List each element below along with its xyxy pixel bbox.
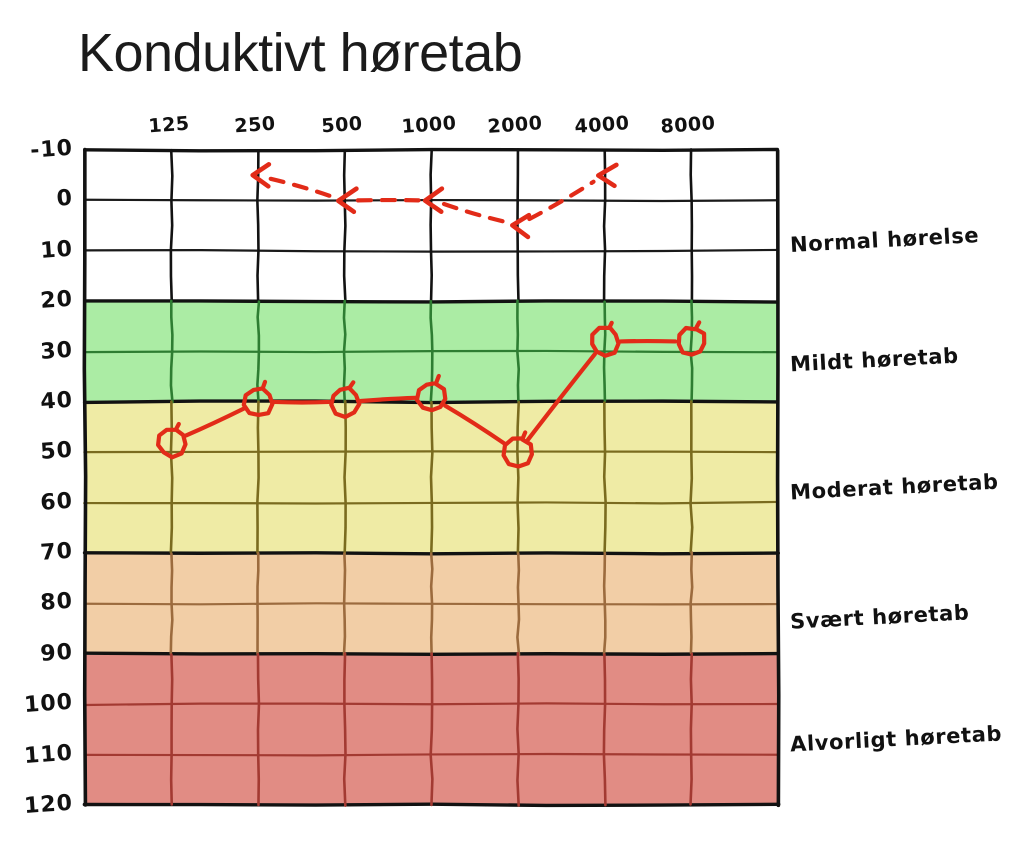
gridline-v-6-4 xyxy=(604,654,606,805)
gridline-v-5-3 xyxy=(517,553,519,654)
y-axis-tick-50: 50 xyxy=(17,438,74,467)
x-axis-tick-500: 500 xyxy=(321,113,364,138)
series-0-segment-1 xyxy=(274,402,329,403)
gridline-v-7-2 xyxy=(691,401,693,552)
y-axis-tick-100: 100 xyxy=(17,690,74,719)
y-axis-tick-30: 30 xyxy=(17,337,74,366)
x-axis-tick-8000: 8000 xyxy=(660,112,716,138)
y-axis-tick-20: 20 xyxy=(17,287,74,316)
audiogram-chart: 1252505001000200040008000-10010203040506… xyxy=(0,0,1024,842)
gridline-v-5-2 xyxy=(517,402,518,553)
gridline-v-4-2 xyxy=(431,402,432,552)
x-axis-tick-2000: 2000 xyxy=(487,112,543,138)
x-axis-tick-4000: 4000 xyxy=(574,112,630,138)
y-axis-tick-0: 0 xyxy=(17,186,74,215)
y-axis-tick-70: 70 xyxy=(17,539,74,568)
gridline-v-4-0 xyxy=(431,149,432,301)
gridline-v-1-4 xyxy=(171,655,172,805)
x-axis-tick-125: 125 xyxy=(147,113,190,138)
gridline-v-edge-8 xyxy=(778,151,779,806)
gridline-v-1-3 xyxy=(171,554,173,654)
gridline-v-3-4 xyxy=(344,653,345,805)
gridline-v-7-1 xyxy=(691,301,692,402)
gridline-v-1-0 xyxy=(171,150,172,302)
gridline-v-5-1 xyxy=(517,301,518,402)
gridline-v-1-2 xyxy=(171,402,172,553)
y-axis-tick-90: 90 xyxy=(17,639,74,668)
gridline-v-2-2 xyxy=(257,402,258,553)
y-axis-tick-110: 110 xyxy=(17,740,74,769)
y-axis-tick-10: 10 xyxy=(17,236,74,265)
gridline-v-6-3 xyxy=(604,553,605,654)
y-axis-tick-80: 80 xyxy=(17,589,74,618)
gridline-v-3-3 xyxy=(344,554,345,655)
gridline-v-6-1 xyxy=(604,302,605,401)
gridline-v-edge-0 xyxy=(84,150,85,805)
gridline-v-7-3 xyxy=(691,552,693,653)
gridline-v-2-4 xyxy=(258,654,259,805)
gridline-v-4-3 xyxy=(431,554,432,655)
y-axis-tick-40: 40 xyxy=(17,388,74,417)
gridline-v-5-4 xyxy=(517,653,518,805)
gridline-v-6-2 xyxy=(604,403,605,553)
gridline-v-5-0 xyxy=(517,149,518,300)
gridline-v-2-3 xyxy=(257,553,258,654)
x-axis-tick-250: 250 xyxy=(234,113,277,138)
gridline-v-2-1 xyxy=(257,302,259,401)
y-axis-tick-120: 120 xyxy=(17,791,74,820)
gridline-v-1-1 xyxy=(171,301,172,402)
gridline-v-3-0 xyxy=(344,151,345,301)
gridline-v-7-4 xyxy=(691,654,692,805)
y-axis-tick--10: -10 xyxy=(17,136,74,165)
gridline-v-3-2 xyxy=(345,401,346,553)
x-axis-tick-1000: 1000 xyxy=(400,112,456,138)
y-axis-tick-60: 60 xyxy=(17,488,74,517)
gridline-v-7-0 xyxy=(691,149,692,301)
